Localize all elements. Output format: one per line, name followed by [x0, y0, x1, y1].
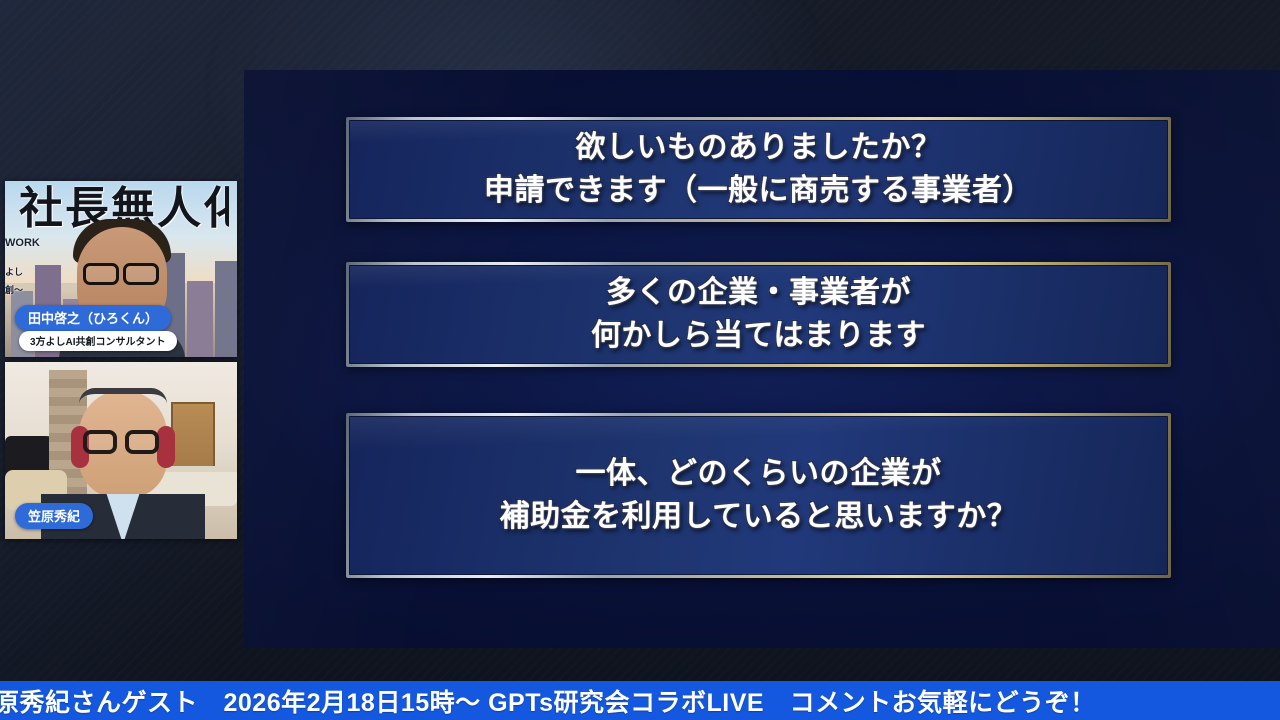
- participant-name-pill-tanaka: 田中啓之（ひろくん）: [15, 305, 171, 331]
- eyeglasses-left: [83, 430, 117, 454]
- slide-panel-3-inner: 一体、どのくらいの企業が 補助金を利用していると思いますか？: [349, 416, 1168, 575]
- headphone-band: [79, 388, 167, 404]
- eyeglasses-right: [123, 263, 159, 285]
- eyeglasses-left: [83, 263, 119, 285]
- slide-panel-3: 一体、どのくらいの企業が 補助金を利用していると思いますか？: [346, 413, 1171, 578]
- slide-panel-2-inner: 多くの企業・事業者が 何かしら当てはまります: [349, 265, 1168, 364]
- bottom-ticker-bar: 原秀紀さんゲスト 2026年2月18日15時〜 GPTs研究会コラボLIVE コ…: [0, 681, 1280, 720]
- participant-role-pill-tanaka: 3方よしAI共創コンサルタント: [19, 331, 177, 351]
- slide-panel-1-line-1: 欲しいものありましたか？: [576, 127, 942, 170]
- ticker-text: 原秀紀さんゲスト 2026年2月18日15時〜 GPTs研究会コラボLIVE コ…: [0, 683, 1096, 719]
- backdrop-building: [187, 281, 213, 357]
- backdrop-building: [215, 261, 237, 357]
- slide-panel-3-line-2: 補助金を利用していると思いますか？: [500, 496, 1018, 539]
- backdrop-text-work: WORK: [5, 237, 40, 249]
- backdrop-text-yoshi: よし: [5, 265, 23, 278]
- slide-panel-1-inner: 欲しいものありましたか？ 申請できます（一般に商売する事業者）: [349, 120, 1168, 219]
- slide-panel-2-line-1: 多くの企業・事業者が: [606, 272, 911, 315]
- eyeglasses-right: [125, 430, 159, 454]
- slide-panel-3-line-1: 一体、どのくらいの企業が: [576, 453, 942, 496]
- slide-panel-1-line-2: 申請できます（一般に商売する事業者）: [484, 170, 1033, 213]
- participant-tile-tanaka[interactable]: 社長無人化 WORK よし 創〜 田中啓之（ひろくん） 3方よしAI共創コンサル…: [5, 181, 237, 357]
- presentation-slide: 欲しいものありましたか？ 申請できます（一般に商売する事業者） 多くの企業・事業…: [244, 70, 1280, 648]
- participant-name-pill-kasahara: 笠原秀紀: [15, 503, 93, 529]
- headphone-earcup-right: [157, 426, 175, 468]
- stream-canvas: 欲しいものありましたか？ 申請できます（一般に商売する事業者） 多くの企業・事業…: [0, 0, 1280, 720]
- backdrop-text-sou: 創〜: [5, 283, 23, 296]
- slide-panel-1: 欲しいものありましたか？ 申請できます（一般に商売する事業者）: [346, 117, 1171, 222]
- slide-panel-2: 多くの企業・事業者が 何かしら当てはまります: [346, 262, 1171, 367]
- participant-tile-kasahara[interactable]: 笠原秀紀: [5, 362, 237, 539]
- slide-panel-2-line-2: 何かしら当てはまります: [591, 315, 926, 358]
